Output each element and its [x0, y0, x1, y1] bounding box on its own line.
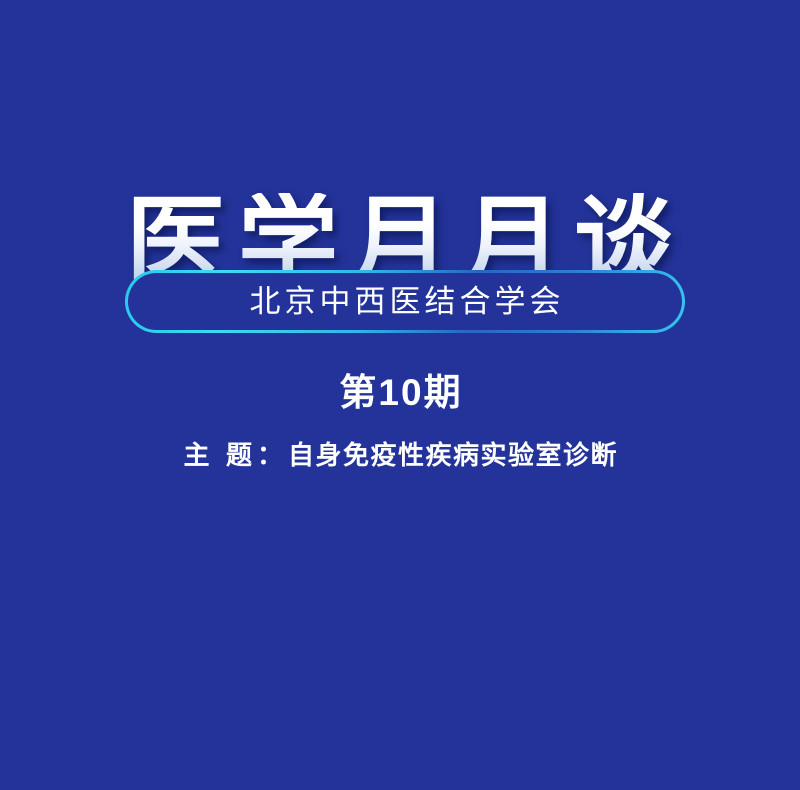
topic-value: 自身免疫性疾病实验室诊断 — [288, 441, 618, 470]
organization-name: 北京中西医结合学会 — [246, 286, 565, 317]
organization-pill: 北京中西医结合学会 — [125, 270, 685, 333]
topic-label: 主 题： — [183, 441, 288, 470]
topic-line: 主 题：自身免疫性疾病实验室诊断 — [0, 440, 800, 471]
issue-number: 第10期 — [0, 372, 800, 415]
poster-canvas: 医学月月谈 北京中西医结合学会 第10期 主 题：自身免疫性疾病实验室诊断 — [0, 0, 800, 790]
